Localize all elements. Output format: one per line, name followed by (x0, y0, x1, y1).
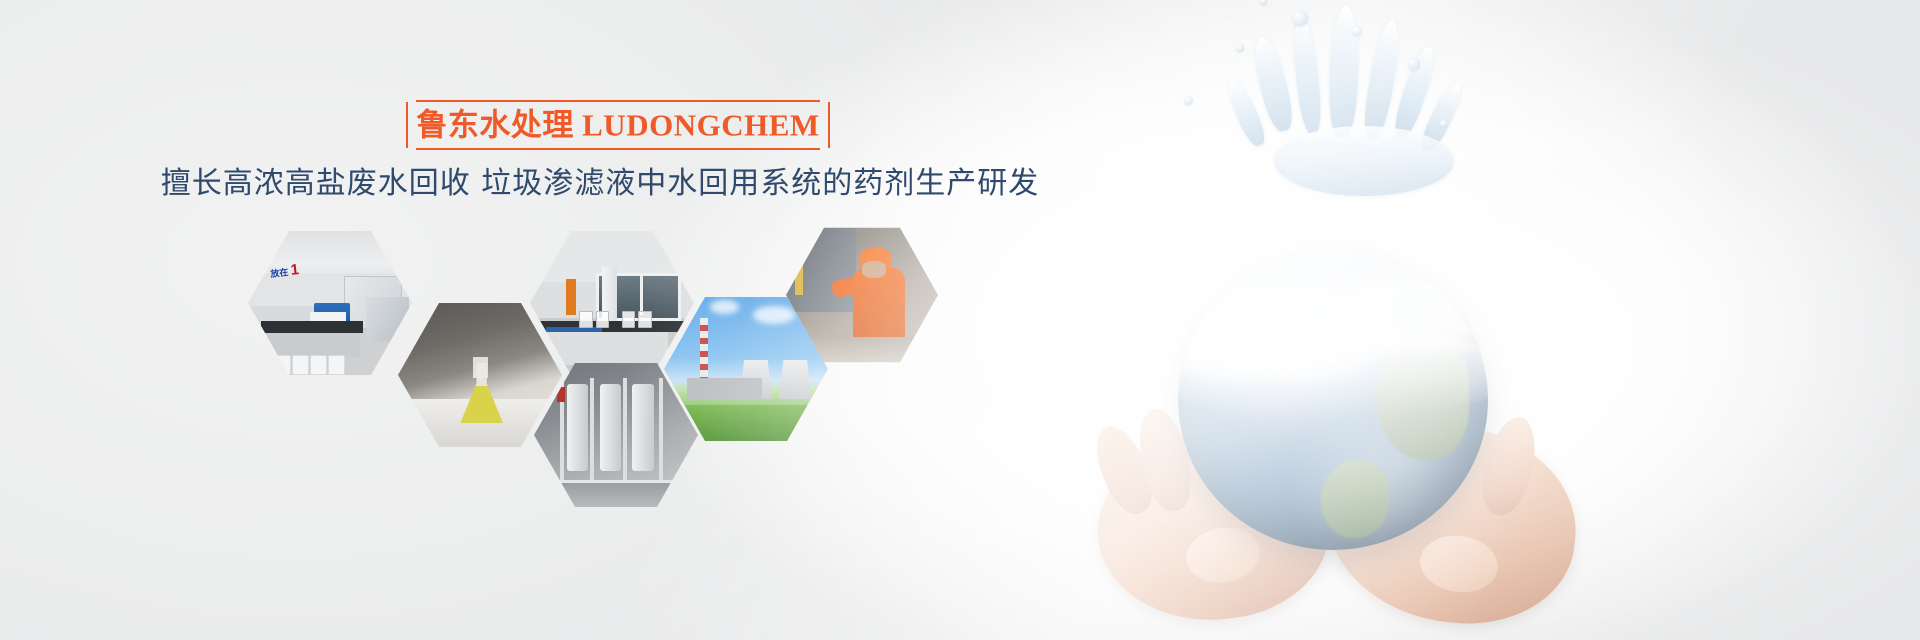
wall-slogan-text: 放在 1 (269, 257, 347, 298)
banner-subtitle: 擅长高浓高盐废水回收 垃圾渗滤液中水回用系统的药剂生产研发 (0, 158, 1200, 202)
water-artwork (1020, 0, 1920, 640)
hexagon-photo-cluster: 放在 1 (0, 0, 1000, 640)
hex-photo-laboratory-glassware-bench[interactable] (530, 228, 694, 378)
hero-banner: 放在 1 (0, 0, 1920, 640)
page-title: 鲁东水处理 LUDONGCHEM (406, 110, 830, 141)
title-rule-top (416, 100, 820, 102)
banner-title-block: 鲁东水处理 LUDONGCHEM (406, 100, 830, 150)
hex-photo-laboratory-equipment-room[interactable]: 放在 1 (248, 228, 412, 378)
title-rule-bottom (416, 148, 820, 150)
earth-globe-icon (1178, 250, 1488, 550)
hex-photo-yellow-reagent-flask[interactable] (398, 300, 562, 450)
